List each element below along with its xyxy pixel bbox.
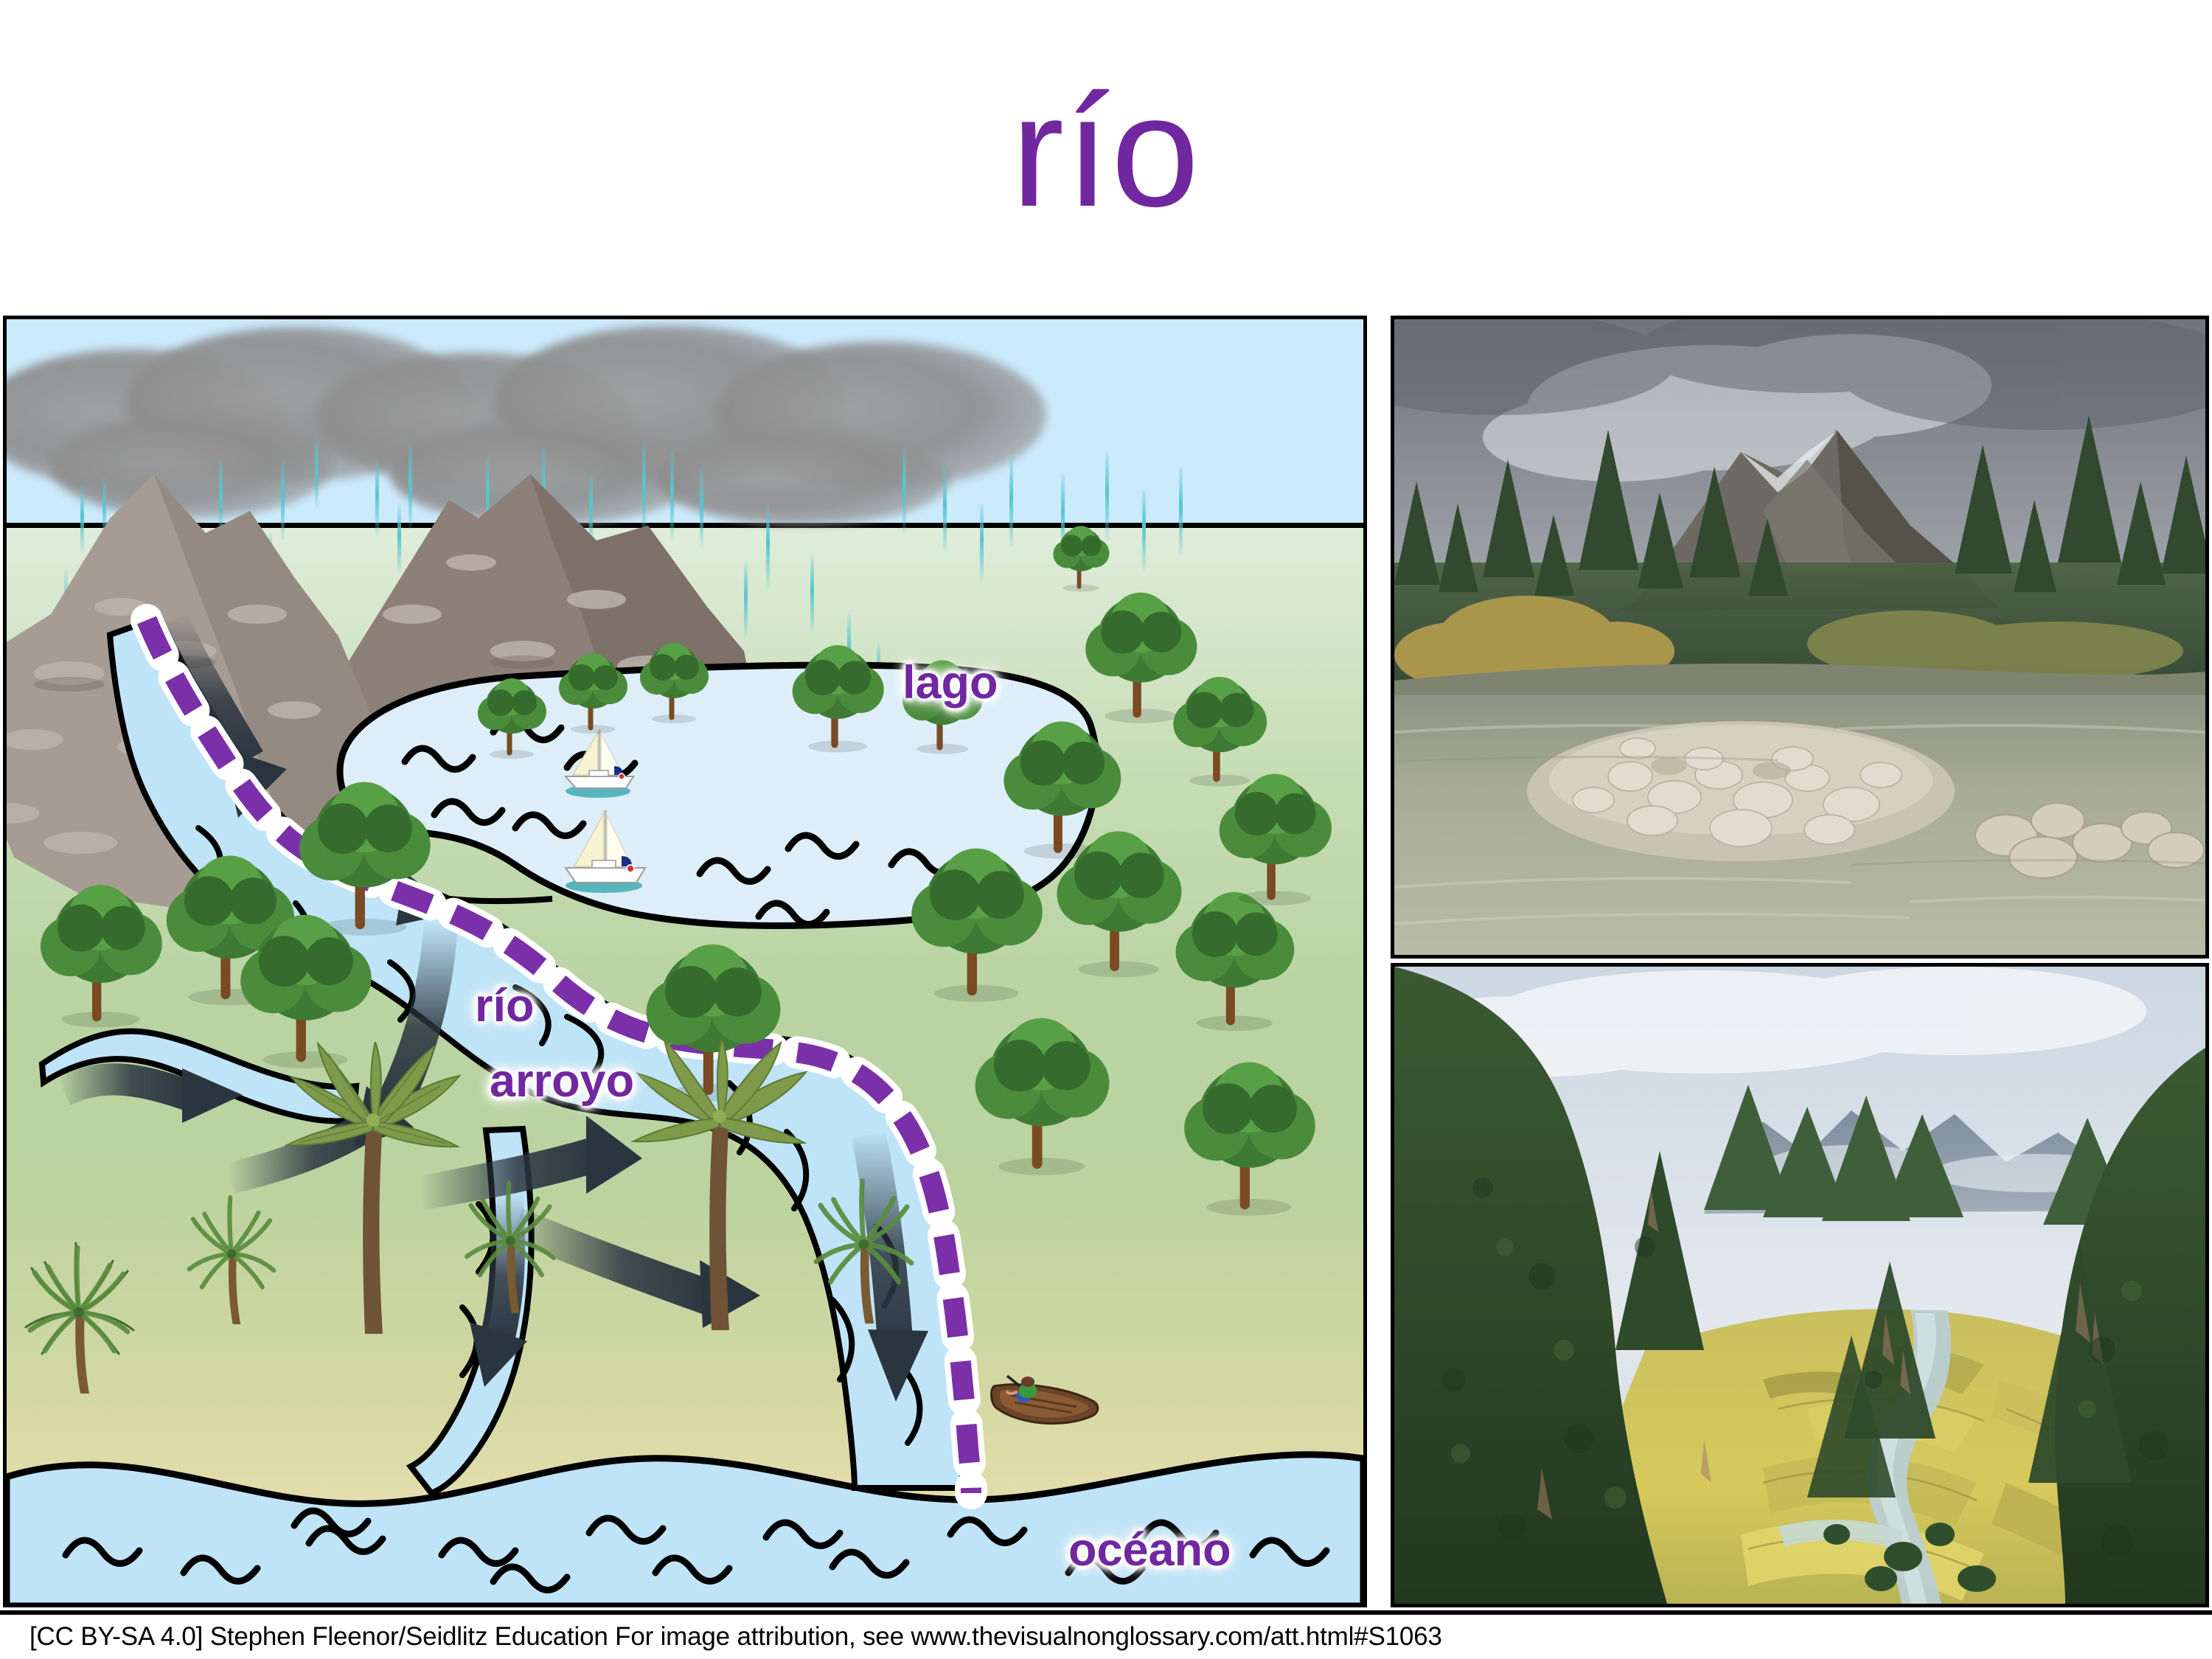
palm-tree-icon — [176, 1182, 287, 1329]
palm-tree-icon — [20, 1230, 138, 1399]
tree-icon — [899, 835, 1054, 1005]
banana-palm-icon — [626, 1038, 810, 1340]
label-lago: lago — [902, 660, 998, 706]
banana-palm-icon — [279, 1042, 464, 1344]
photo-mountain-river-graphic — [1394, 319, 2205, 955]
rowboat-icon — [990, 1370, 1107, 1440]
tree-icon — [782, 636, 893, 754]
page-title: río — [1012, 72, 1201, 230]
tree-icon — [1172, 1049, 1326, 1219]
sailboat-icon — [554, 723, 642, 804]
attribution-text: [CC BY-SA 4.0] Stephen Fleenor/Seidlitz … — [0, 1622, 1442, 1652]
palm-tree-icon — [803, 1164, 925, 1329]
tree-icon — [633, 636, 714, 725]
title-bar: río — [0, 0, 2212, 313]
sailboat-icon — [552, 806, 655, 902]
tree-icon — [552, 647, 633, 735]
palm-tree-icon — [455, 1167, 566, 1318]
tree-icon — [29, 872, 173, 1031]
tree-icon — [471, 672, 552, 760]
tree-icon — [1208, 762, 1341, 909]
photo-karst-valley-river — [1391, 963, 2209, 1607]
label-arroyo: arroyo — [490, 1058, 634, 1105]
label-oceano: océano — [1068, 1527, 1231, 1573]
tree-icon — [962, 1005, 1121, 1178]
attribution-footer: [CC BY-SA 4.0] Stephen Fleenor/Seidlitz … — [0, 1610, 2212, 1659]
label-rio: río — [475, 983, 535, 1029]
river-system-diagram: lago río arroyo océano — [3, 316, 1367, 1607]
photo-karst-valley-river-graphic — [1394, 967, 2205, 1604]
content-panels: lago río arroyo océano — [0, 313, 2212, 1610]
photo-mountain-river — [1391, 316, 2209, 959]
